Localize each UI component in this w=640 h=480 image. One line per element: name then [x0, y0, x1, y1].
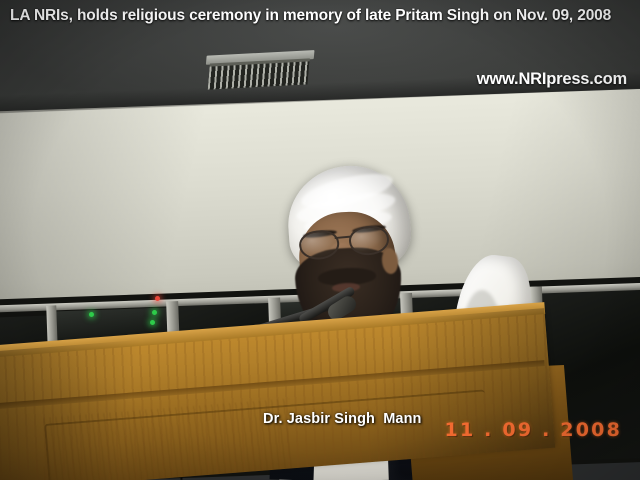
- date-timestamp: 11 . 09 . 2008: [445, 419, 622, 441]
- photo-canvas: LA NRIs, holds religious ceremony in mem…: [0, 0, 640, 480]
- headline-text: LA NRIs, holds religious ceremony in mem…: [10, 6, 625, 26]
- website-watermark: www.NRIpress.com: [477, 70, 627, 89]
- photo-caption: Dr. Jasbir Singh Mann: [263, 411, 422, 427]
